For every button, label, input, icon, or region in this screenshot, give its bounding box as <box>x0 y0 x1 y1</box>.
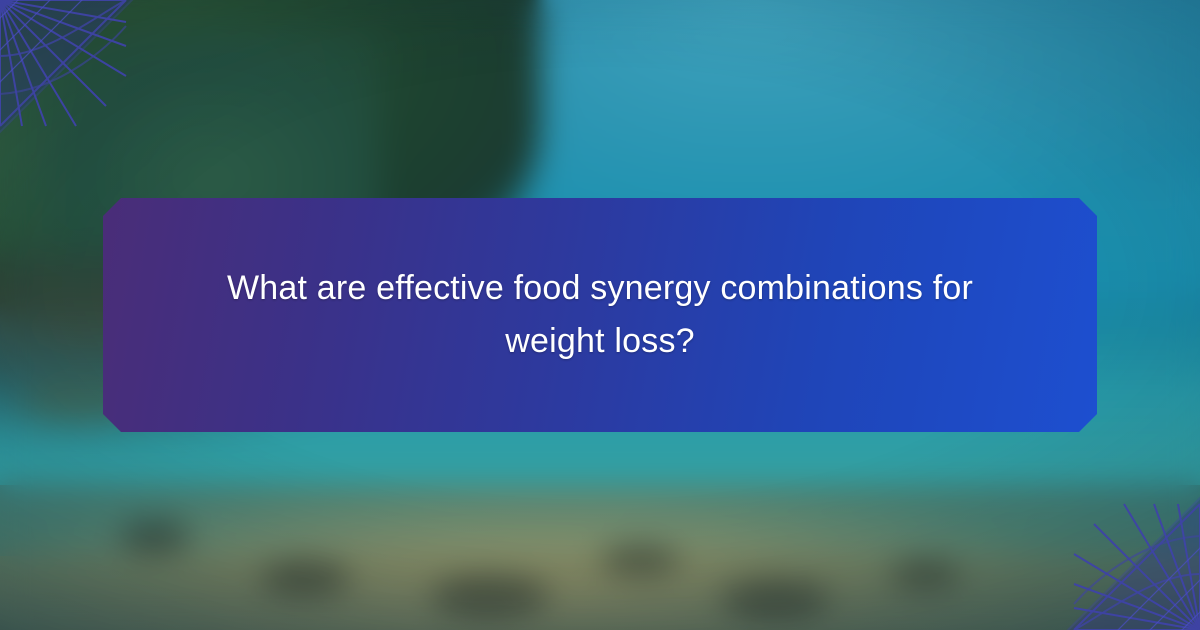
headline-title: What are effective food synergy combinat… <box>103 198 1097 432</box>
headline-card: What are effective food synergy combinat… <box>103 198 1097 432</box>
og-image-canvas: What are effective food synergy combinat… <box>0 0 1200 630</box>
